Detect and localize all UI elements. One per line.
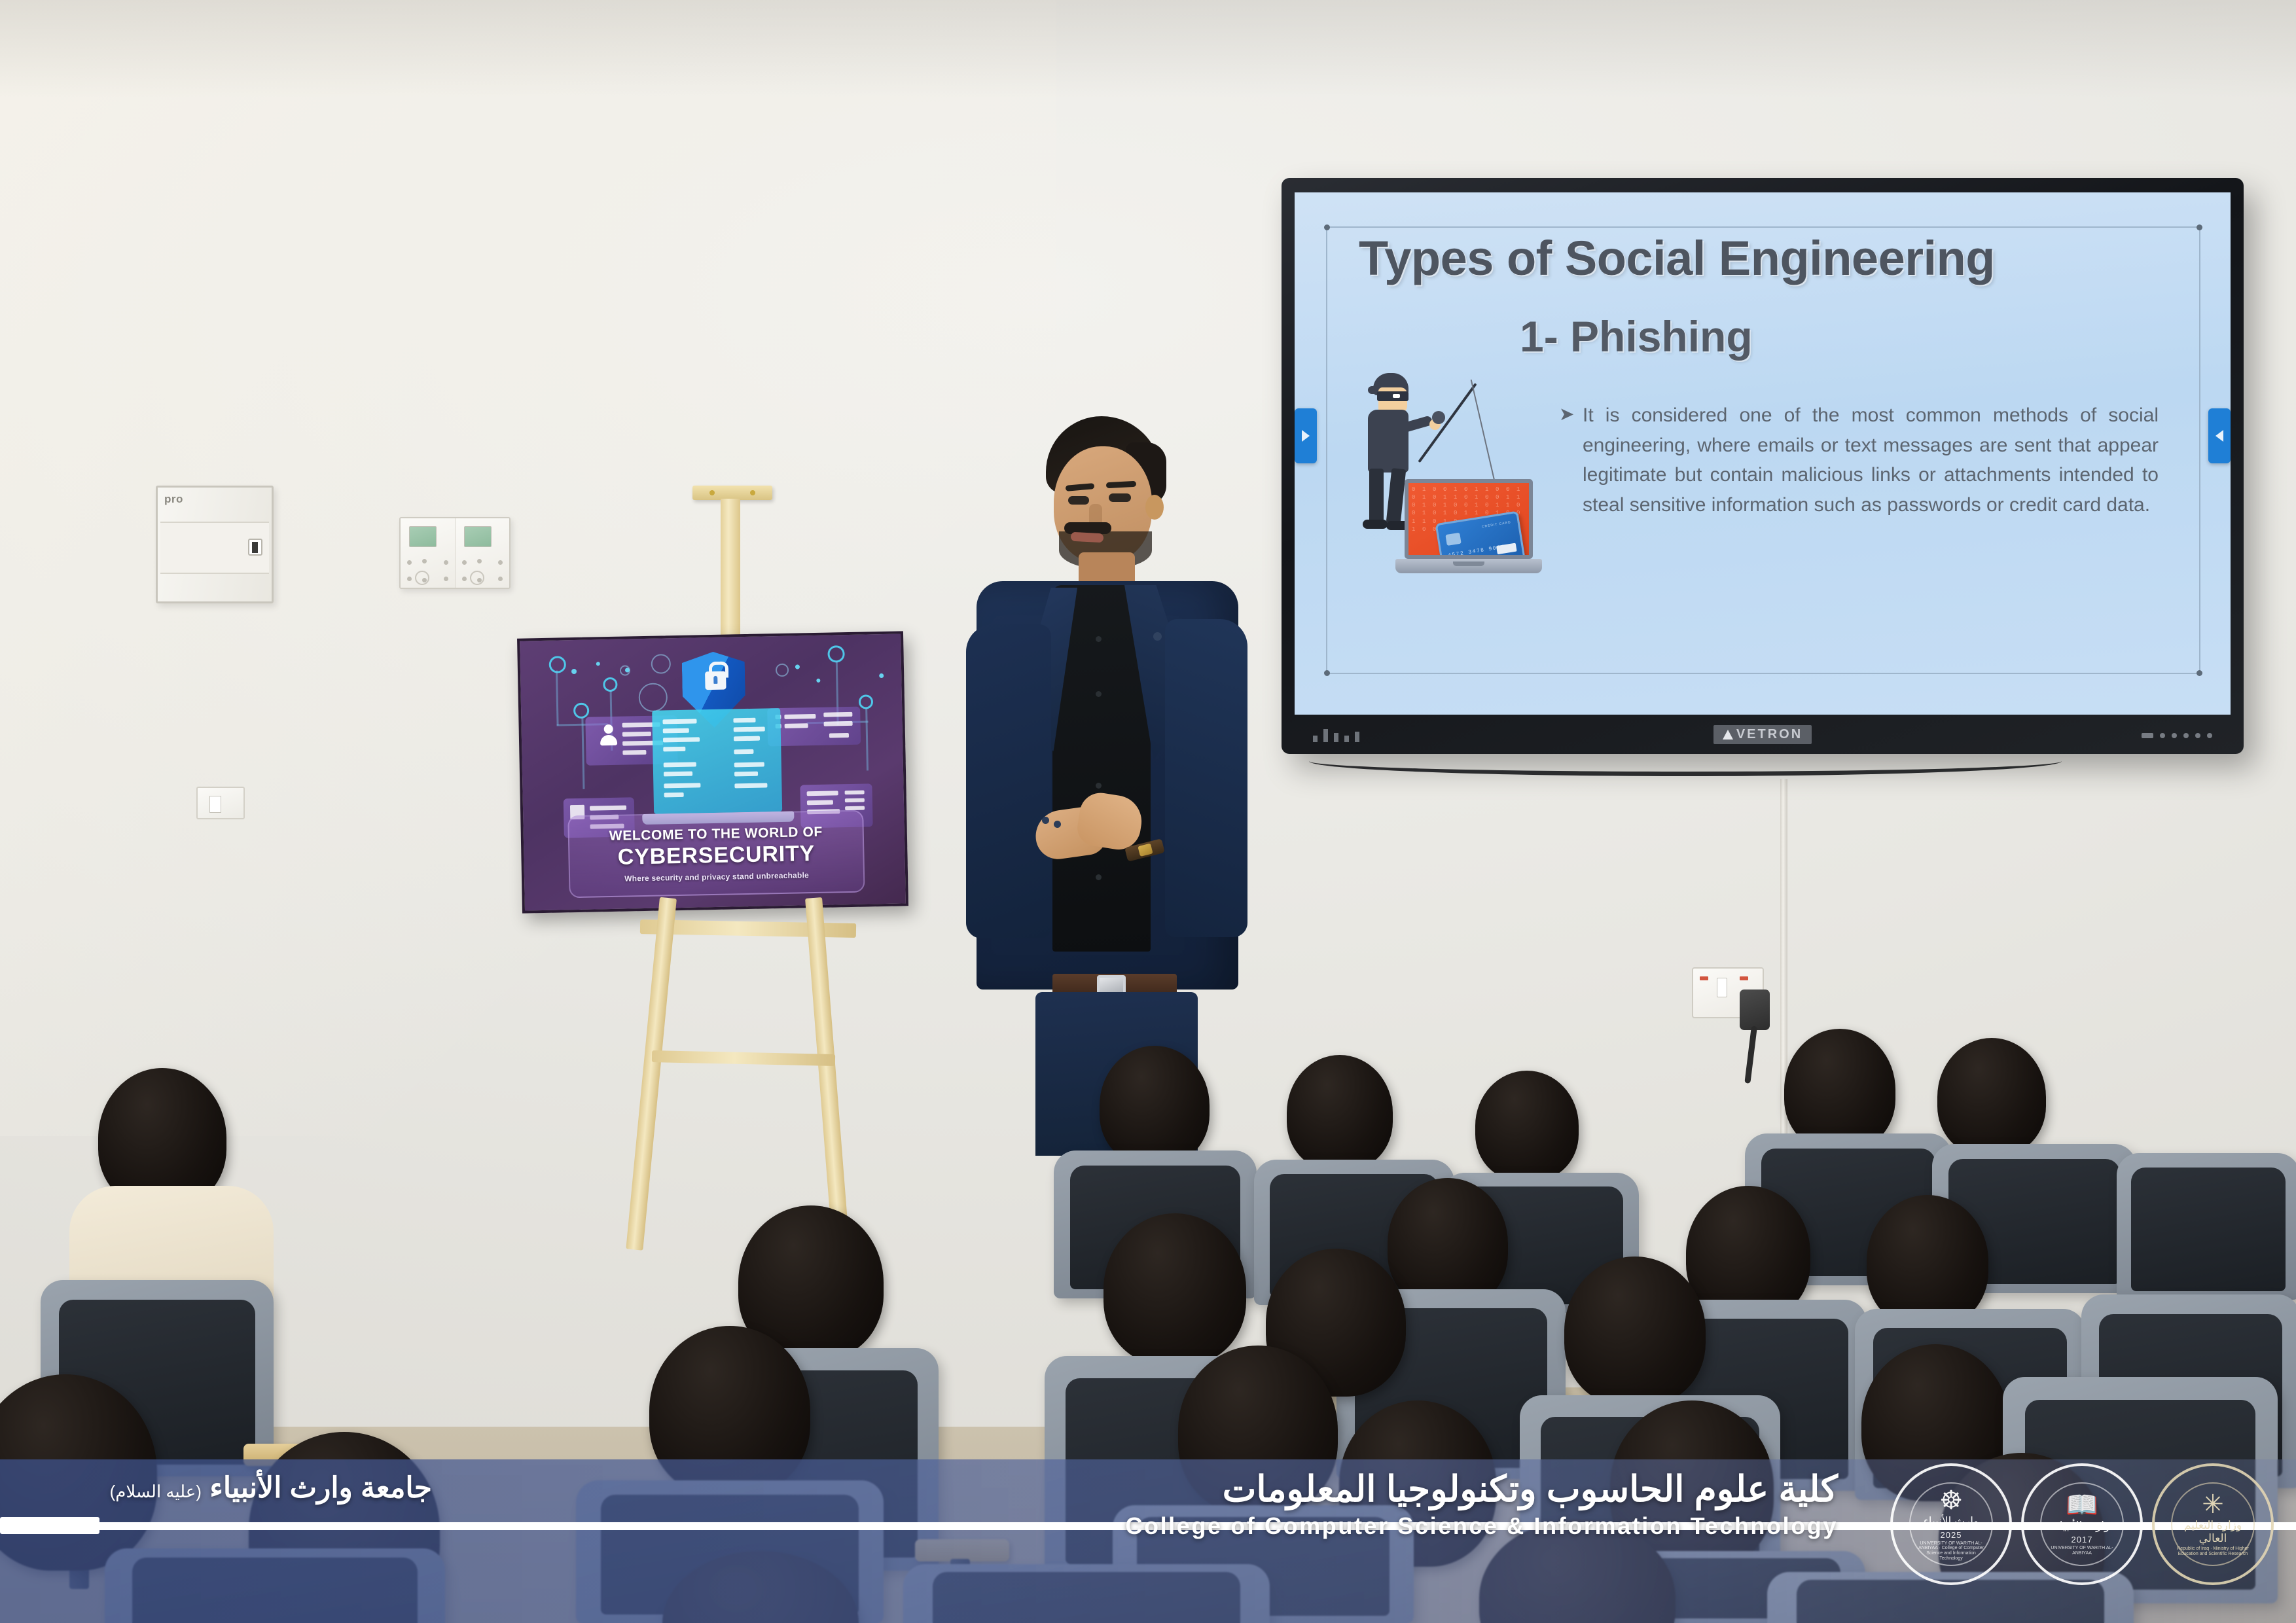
easel-mast bbox=[721, 499, 740, 636]
display-screen[interactable]: Types of Social Engineering 1- Phishing … bbox=[1295, 192, 2231, 715]
display-bezel: VETRON bbox=[1282, 715, 2244, 754]
phishing-illustration: 0 1 0 0 1 0 1 1 0 0 1 0 1 0 1 1 0 1 0 0 … bbox=[1355, 369, 1545, 585]
ministry-logo-glyph: ✳ bbox=[2202, 1491, 2224, 1518]
ministry-logo: ✳ وزارة التعليم العالي Republic of Iraq … bbox=[2152, 1463, 2274, 1585]
university-logo-ar: وارث الأنبياء bbox=[2054, 1520, 2109, 1533]
university-name: جامعة وارث الأنبياء (عليه السلام) bbox=[26, 1471, 432, 1505]
university-logo-caption: UNIVERSITY OF WARITH AL-ANBIYAA bbox=[2041, 1546, 2123, 1556]
footer-dash-mark bbox=[0, 1517, 99, 1534]
display-brand-logo: VETRON bbox=[1713, 725, 1812, 744]
college-logo-caption: UNIVERSITY OF WARITH AL-ANBIYAA · Colleg… bbox=[1910, 1541, 1992, 1561]
poster-tagline: Where security and privacy stand unbreac… bbox=[624, 870, 809, 883]
ministry-logo-ar: وزارة التعليم العالي bbox=[2172, 1519, 2253, 1545]
thermostat-dial-icon[interactable] bbox=[470, 571, 484, 585]
ceiling-shadow bbox=[0, 0, 2296, 98]
seat[interactable] bbox=[2117, 1153, 2296, 1300]
branding-footer: جامعة وارث الأنبياء (عليه السلام) كلية ع… bbox=[0, 1459, 2296, 1623]
university-logo: 📖 وارث الأنبياء 2017 UNIVERSITY OF WARIT… bbox=[2021, 1463, 2143, 1585]
poster-line2: CYBERSECURITY bbox=[617, 841, 815, 870]
wall-socket-left[interactable] bbox=[196, 787, 245, 819]
college-name-ar: كلية علوم الحاسوب وتكنولوجيا المعلومات bbox=[1125, 1469, 1838, 1510]
fishing-line bbox=[1471, 380, 1498, 490]
college-logo-glyph: ☸ bbox=[1939, 1488, 1963, 1514]
ministry-logo-caption: Republic of Iraq · Ministry of Higher Ed… bbox=[2172, 1546, 2253, 1556]
panel-brand-label: pro bbox=[164, 493, 183, 506]
audience-head bbox=[1103, 1213, 1246, 1365]
college-logo-ar: وارث الأنبياء bbox=[1924, 1515, 1979, 1528]
thermostat-left[interactable] bbox=[401, 518, 456, 588]
audience-head bbox=[1784, 1029, 1895, 1150]
brand-triangle-icon bbox=[1723, 730, 1733, 740]
display-brand-text: VETRON bbox=[1736, 727, 1803, 742]
padlock-icon bbox=[705, 671, 726, 690]
fishing-reel-icon bbox=[1432, 411, 1445, 424]
university-logo-year: 2017 bbox=[2072, 1535, 2093, 1544]
college-logo: ☸ وارث الأنبياء 2025 UNIVERSITY OF WARIT… bbox=[1890, 1463, 2012, 1585]
laptop-icon: 0 1 0 0 1 0 1 1 0 0 1 0 1 0 1 1 0 1 0 0 … bbox=[1395, 479, 1542, 585]
university-name-suffix: (عليه السلام) bbox=[110, 1482, 202, 1501]
thermostat-lcd-icon bbox=[409, 526, 437, 547]
audience-head bbox=[1475, 1071, 1579, 1181]
slide-title: Types of Social Engineering bbox=[1359, 230, 1995, 286]
display-indicator-leds bbox=[2142, 733, 2212, 738]
college-name-block: كلية علوم الحاسوب وتكنولوجيا المعلومات C… bbox=[1125, 1469, 1838, 1540]
bullet-marker-icon: ➤ bbox=[1559, 403, 1574, 425]
cybersecurity-welcome-poster: WELCOME TO THE WORLD OF CYBERSECURITY Wh… bbox=[517, 631, 908, 913]
thermostat-right[interactable] bbox=[456, 518, 510, 588]
chevron-left-icon[interactable] bbox=[2208, 408, 2231, 463]
thermostat-pair[interactable] bbox=[399, 517, 511, 589]
card-label: CREDIT CARD bbox=[1482, 520, 1511, 529]
interactive-display[interactable]: Types of Social Engineering 1- Phishing … bbox=[1282, 178, 2244, 754]
panel-switch-icon[interactable] bbox=[248, 539, 262, 556]
college-name-en: College of Computer Science & Informatio… bbox=[1125, 1512, 1838, 1540]
card-chip-icon bbox=[1445, 533, 1461, 546]
audience-head bbox=[1937, 1038, 2046, 1156]
college-logo-year: 2025 bbox=[1941, 1530, 1962, 1540]
audience-head bbox=[1564, 1257, 1706, 1406]
chevron-right-icon[interactable] bbox=[1295, 408, 1317, 463]
slide-body-text: It is considered one of the most common … bbox=[1583, 401, 2159, 520]
university-name-ar: جامعة وارث الأنبياء bbox=[209, 1472, 432, 1504]
audience-head bbox=[1287, 1055, 1393, 1170]
easel-top-bar bbox=[692, 486, 772, 500]
electrical-panel[interactable]: pro bbox=[156, 486, 274, 603]
user-avatar-icon bbox=[599, 724, 619, 745]
poster-text-banner: WELCOME TO THE WORLD OF CYBERSECURITY Wh… bbox=[567, 810, 865, 899]
audience-head bbox=[1100, 1046, 1210, 1165]
thermostat-dial-icon[interactable] bbox=[415, 571, 429, 585]
logo-row: ☸ وارث الأنبياء 2025 UNIVERSITY OF WARIT… bbox=[1890, 1463, 2274, 1585]
slide-subtitle: 1- Phishing bbox=[1520, 312, 1753, 361]
thermostat-lcd-icon bbox=[464, 526, 492, 547]
photo-scene: pro Types of Social Engineering bbox=[0, 0, 2296, 1623]
university-logo-glyph: 📖 bbox=[2066, 1492, 2098, 1518]
audience-head bbox=[1867, 1195, 1988, 1327]
